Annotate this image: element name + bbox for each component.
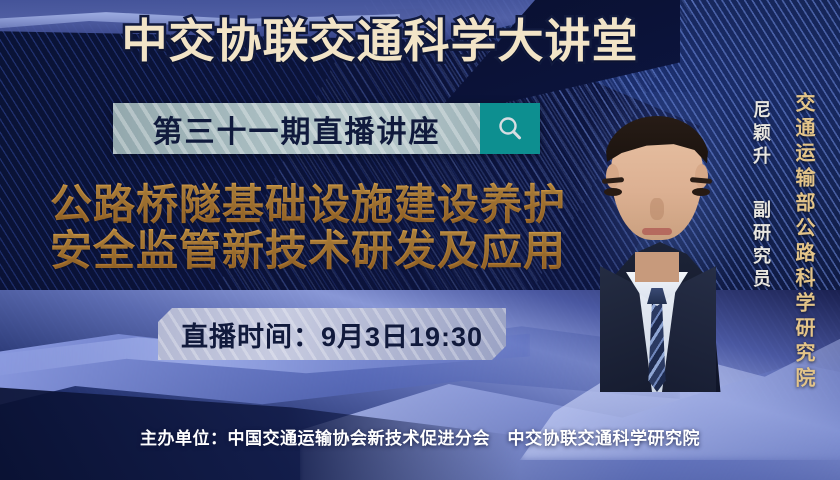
portrait-eye-right — [692, 188, 710, 196]
webinar-poster: 中交协联交通科学大讲堂 第三十一期直播讲座 公路桥隧基础设施建设养护 安全监管新… — [0, 0, 840, 480]
organizer-label: 主办单位：中国交通运输协会新技术促进分会 中交协联交通科学研究院 — [140, 424, 700, 449]
speaker-name: 尼颖升 — [748, 100, 774, 169]
organizer-footer: 主办单位：中国交通运输协会新技术促进分会 中交协联交通科学研究院 — [0, 424, 840, 449]
headline-line-2: 安全监管新技术研发及应用 — [28, 228, 588, 274]
episode-banner: 第三十一期直播讲座 — [113, 103, 540, 154]
broadcast-time-badge: 直播时间：9月3日19:30 — [158, 308, 506, 360]
lecture-headline: 公路桥隧基础设施建设养护 安全监管新技术研发及应用 — [28, 182, 588, 274]
episode-banner-fill: 第三十一期直播讲座 — [113, 103, 480, 154]
page-title: 中交协联交通科学大讲堂 — [0, 18, 760, 64]
portrait-nose — [650, 198, 664, 220]
portrait-eye-left — [604, 188, 622, 196]
portrait-ear-right — [695, 164, 708, 188]
speaker-portrait — [572, 92, 742, 392]
speaker-organization: 交通运输部公路科学研究院 — [789, 92, 818, 392]
search-button[interactable] — [480, 103, 540, 154]
speaker-role: 副研究员 — [748, 200, 774, 292]
portrait-neck — [635, 252, 679, 282]
search-icon — [495, 114, 525, 144]
portrait-mouth — [642, 228, 672, 235]
episode-label: 第三十一期直播讲座 — [153, 107, 441, 151]
portrait-ear-left — [606, 164, 619, 188]
broadcast-time-label: 直播时间：9月3日19:30 — [181, 315, 483, 354]
headline-line-1: 公路桥隧基础设施建设养护 — [28, 182, 588, 228]
